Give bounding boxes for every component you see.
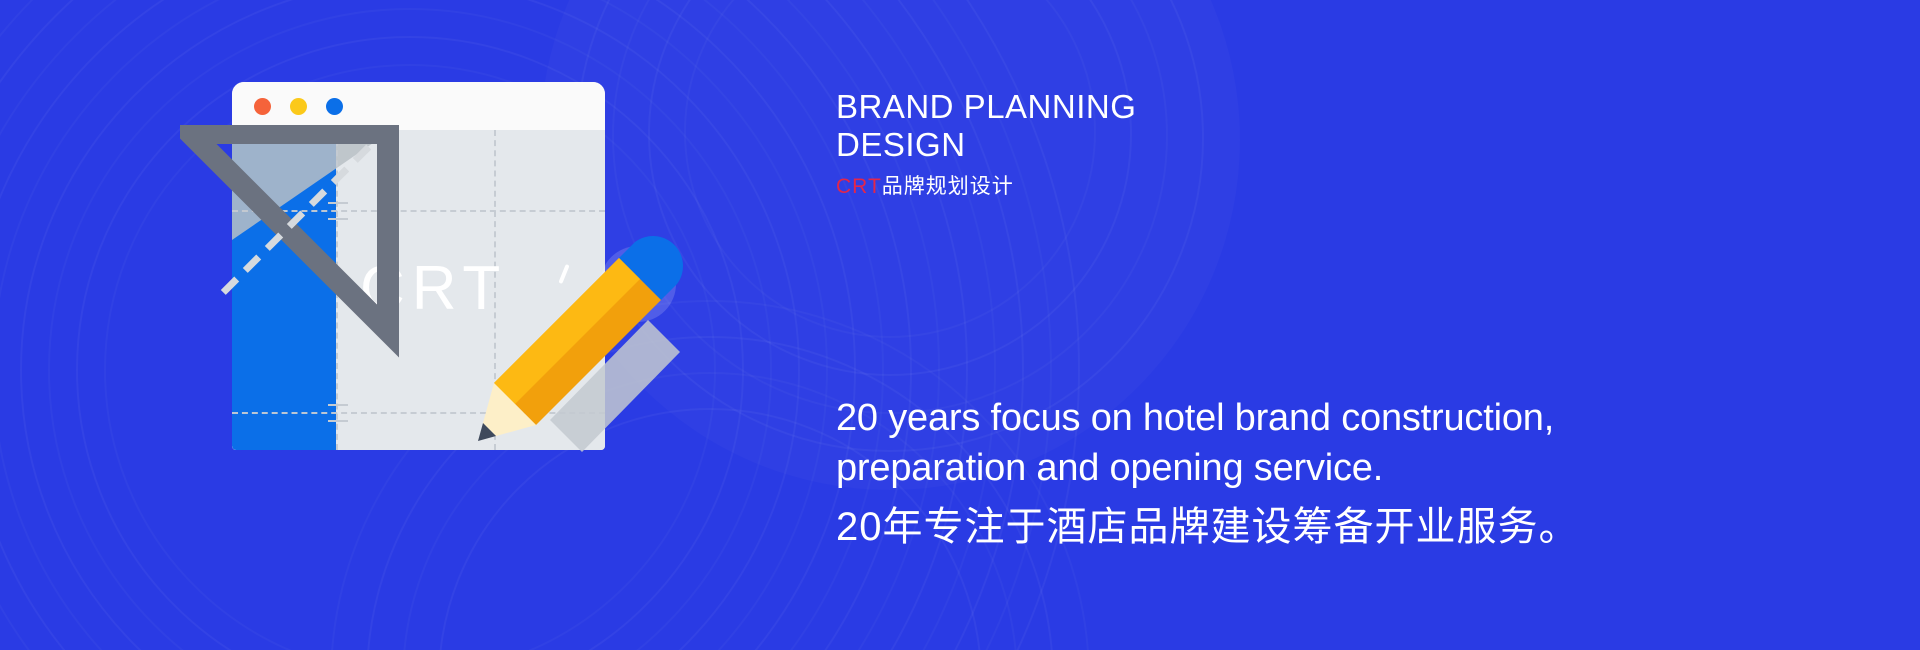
card-titlebar: [232, 82, 605, 130]
guide-tick: [328, 420, 348, 422]
hero-text-column: BRAND PLANNING DESIGN CRT品牌规划设计 20 years…: [836, 0, 1796, 650]
hero-banner: CRT: [0, 0, 1920, 650]
close-dot-icon[interactable]: [254, 98, 271, 115]
kicker-heading-cn: CRT品牌规划设计: [836, 170, 1014, 200]
brand-name-crt: CRT: [836, 175, 882, 198]
hero-illustration: CRT: [180, 78, 680, 478]
minimize-dot-icon[interactable]: [290, 98, 307, 115]
lead-paragraph-cn: 20年专注于酒店品牌建设筹备开业服务。: [836, 502, 1580, 552]
guide-tick: [328, 404, 348, 406]
maximize-dot-icon[interactable]: [326, 98, 343, 115]
lead-paragraph-en: 20 years focus on hotel brand constructi…: [836, 393, 1616, 493]
set-square-ruler-icon: [180, 125, 410, 365]
pencil-icon: [472, 224, 702, 454]
kicker-heading-cn-rest: 品牌规划设计: [882, 175, 1014, 198]
kicker-heading-en: BRAND PLANNING DESIGN: [836, 88, 1136, 164]
